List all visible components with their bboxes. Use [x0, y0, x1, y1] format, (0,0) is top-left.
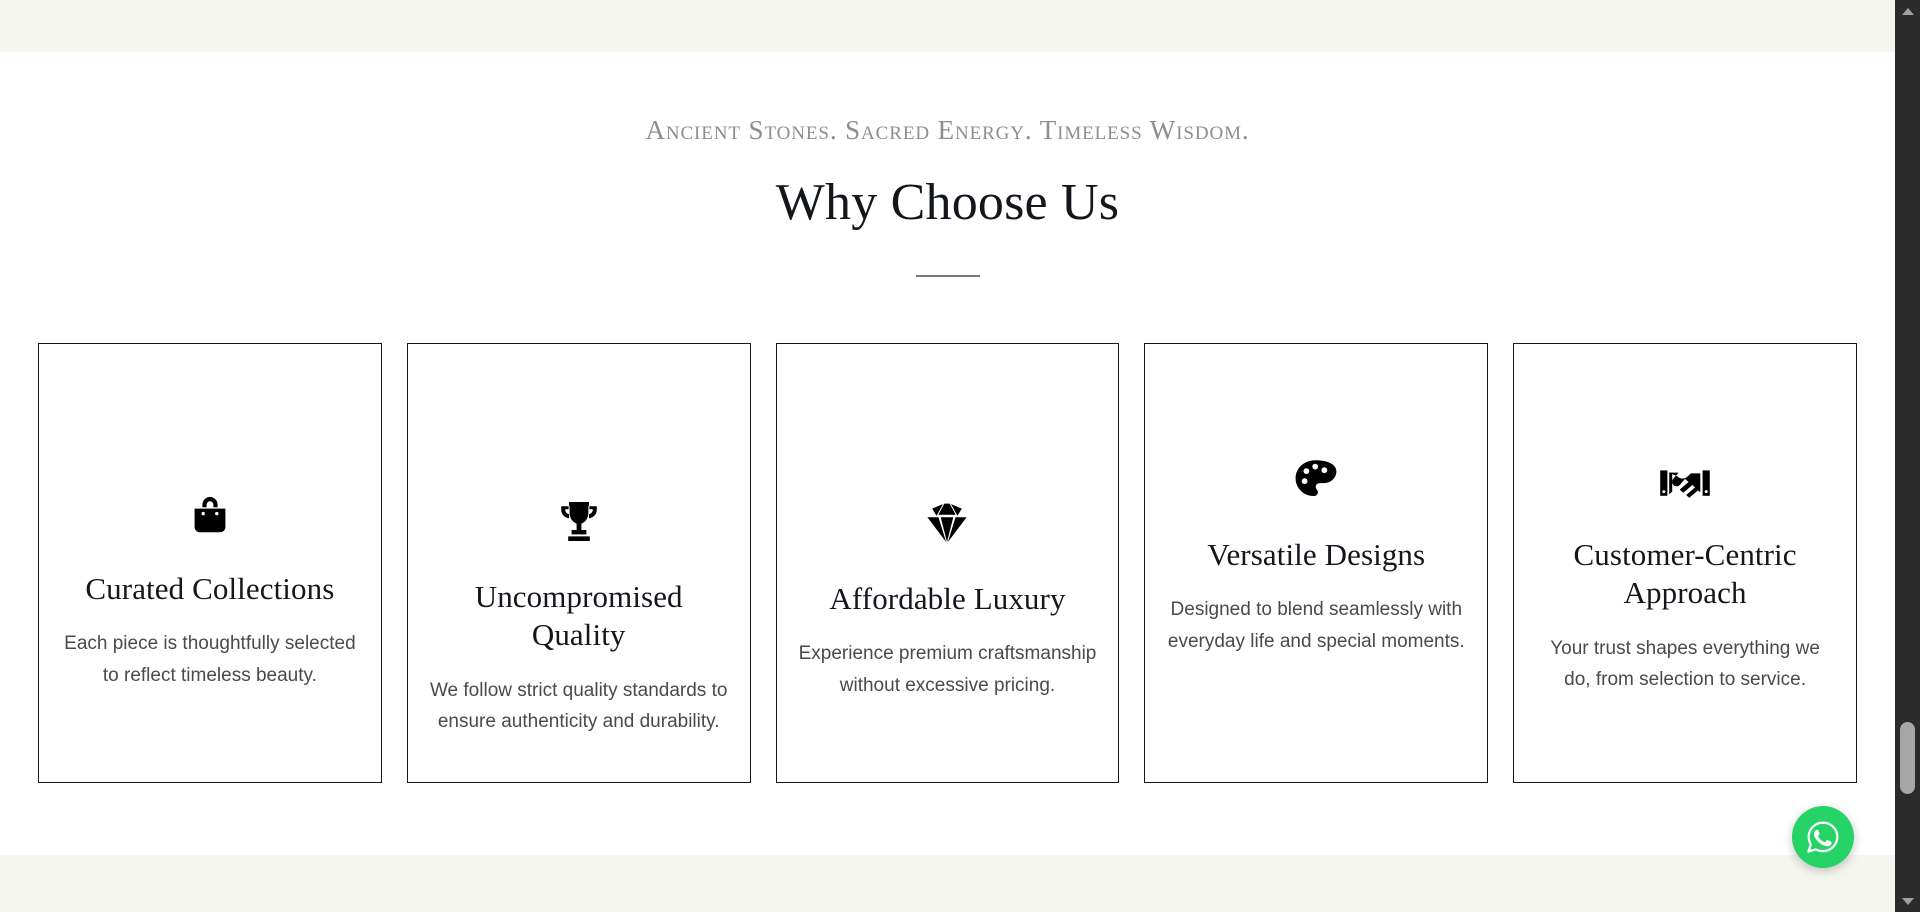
card-description: Experience premium craftsmanship without… [799, 638, 1097, 701]
card-title: Uncompromised Quality [430, 578, 728, 655]
feature-card-list: Curated Collections Each piece is though… [38, 343, 1857, 783]
page-title: Why Choose Us [0, 144, 1895, 229]
card-title: Affordable Luxury [829, 580, 1065, 618]
section-tagline: Ancient Stones. Sacred Energy. Timeless … [0, 52, 1895, 144]
card-title: Versatile Designs [1207, 536, 1425, 574]
card-content: Uncompromised Quality We follow strict q… [430, 500, 728, 738]
whatsapp-icon [1805, 819, 1841, 855]
scroll-up-arrow-icon[interactable] [1895, 0, 1920, 22]
feature-card-customer-centric-approach[interactable]: Customer-Centric Approach Your trust sha… [1513, 343, 1857, 783]
scrollbar-thumb[interactable] [1900, 722, 1915, 794]
card-title: Curated Collections [85, 570, 334, 608]
card-content: Versatile Designs Designed to blend seam… [1167, 458, 1465, 657]
scroll-down-arrow-icon[interactable] [1895, 890, 1920, 912]
vertical-scrollbar[interactable] [1895, 0, 1920, 912]
card-description: Each piece is thoughtfully selected to r… [61, 628, 359, 691]
gem-icon [924, 500, 970, 546]
card-content: Customer-Centric Approach Your trust sha… [1536, 464, 1834, 696]
whatsapp-chat-button[interactable] [1792, 806, 1854, 868]
title-divider [916, 275, 980, 277]
card-description: Your trust shapes everything we do, from… [1536, 633, 1834, 696]
card-content: Curated Collections Each piece is though… [61, 494, 359, 691]
feature-card-curated-collections[interactable]: Curated Collections Each piece is though… [38, 343, 382, 783]
top-band [0, 0, 1895, 52]
card-content: Affordable Luxury Experience premium cra… [799, 500, 1097, 701]
palette-icon [1293, 458, 1339, 502]
bottom-band [0, 855, 1895, 912]
page-viewport: Ancient Stones. Sacred Energy. Timeless … [0, 0, 1895, 912]
feature-card-versatile-designs[interactable]: Versatile Designs Designed to blend seam… [1144, 343, 1488, 783]
handshake-icon [1658, 464, 1712, 502]
card-title: Customer-Centric Approach [1536, 536, 1834, 613]
card-description: We follow strict quality standards to en… [430, 675, 728, 738]
feature-card-uncompromised-quality[interactable]: Uncompromised Quality We follow strict q… [407, 343, 751, 783]
trophy-icon [556, 500, 602, 544]
section-header: Ancient Stones. Sacred Energy. Timeless … [0, 52, 1895, 277]
card-description: Designed to blend seamlessly with everyd… [1167, 594, 1465, 657]
feature-card-affordable-luxury[interactable]: Affordable Luxury Experience premium cra… [776, 343, 1120, 783]
shopping-bag-icon [190, 494, 230, 536]
